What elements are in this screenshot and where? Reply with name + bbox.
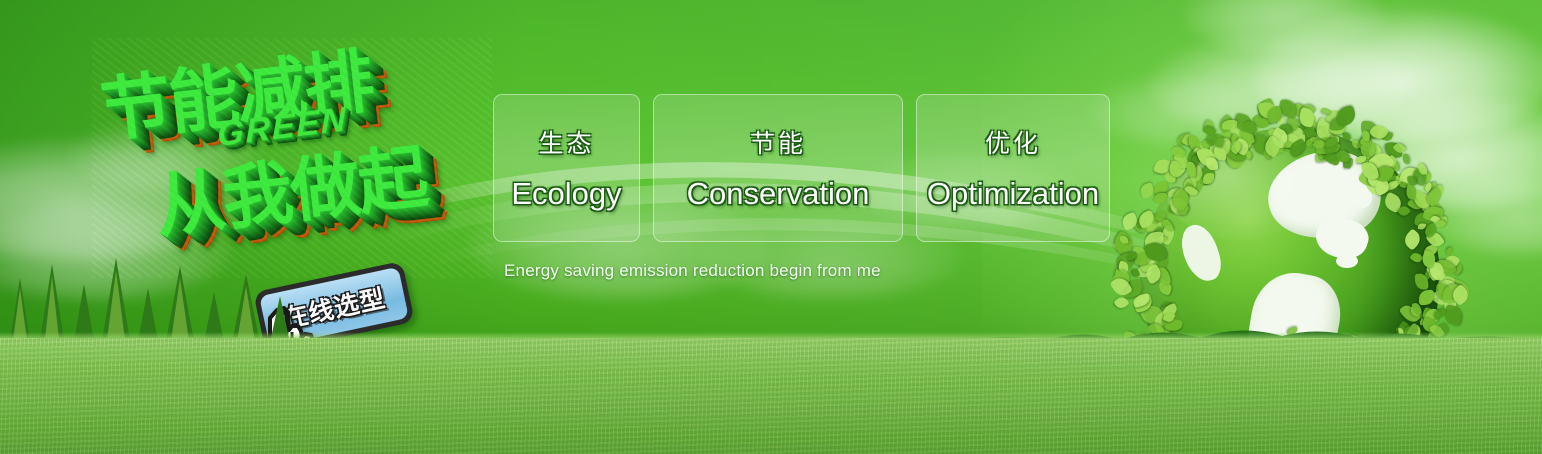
leaf-icon xyxy=(1130,345,1149,364)
leaf-icon xyxy=(1442,303,1465,326)
leaf-icon xyxy=(1148,353,1158,363)
leaf-icon xyxy=(1334,104,1357,127)
leaf-icon xyxy=(1431,359,1448,375)
leaf-icon xyxy=(1430,215,1440,225)
leaf-icon xyxy=(1132,353,1150,370)
globe-sphere xyxy=(1140,128,1440,428)
leaf-icon xyxy=(1120,257,1133,269)
leaf-icon xyxy=(1134,216,1148,230)
leaf-icon xyxy=(1221,119,1237,130)
globe-specular-highlight xyxy=(1166,142,1316,240)
leaf-icon xyxy=(1361,130,1371,142)
leaf-icon xyxy=(1361,120,1377,138)
headline-line-2: 从我做起 xyxy=(149,121,431,252)
leaf-icon xyxy=(1381,130,1393,142)
leaf-icon xyxy=(1369,122,1390,143)
leaf-icon xyxy=(1300,109,1317,126)
headline-texture-overlay xyxy=(92,38,492,278)
leaf-icon xyxy=(1458,370,1474,386)
leaf-icon xyxy=(1437,280,1456,299)
leaf-icon xyxy=(1110,275,1134,299)
leaf-icon xyxy=(1360,137,1371,144)
feature-label-cn-conservation: 节能 xyxy=(750,124,806,160)
continent-south-america xyxy=(1237,266,1346,409)
leaf-icon xyxy=(1431,357,1449,371)
leaf-icon xyxy=(1153,157,1172,176)
leaf-icon xyxy=(1449,284,1472,307)
leaf-icon xyxy=(1458,361,1467,368)
feature-label-en-ecology: Ecology xyxy=(511,176,621,212)
leaf-icon xyxy=(1392,142,1406,156)
leaf-icon xyxy=(1439,260,1447,272)
cloud-icon xyxy=(1255,10,1542,140)
leaf-icon xyxy=(1276,117,1285,125)
headline-line-1: 节能减排 xyxy=(95,25,377,156)
leaf-icon xyxy=(1423,182,1437,191)
leaf-icon xyxy=(1255,97,1276,117)
leaf-icon xyxy=(1430,355,1439,365)
leaf-icon xyxy=(1441,283,1463,306)
headline-english-word: GREEN xyxy=(217,100,348,155)
leaf-icon xyxy=(1409,377,1427,397)
feature-label-cn-ecology: 生态 xyxy=(538,124,594,160)
leaf-icon xyxy=(1411,168,1430,186)
leaf-icon xyxy=(1413,168,1425,177)
leaf-icon xyxy=(1278,100,1296,118)
leaf-icon xyxy=(1127,251,1138,261)
leaf-icon xyxy=(1438,276,1462,301)
leaf-icon xyxy=(1117,261,1130,274)
leaf-icon xyxy=(1398,433,1408,444)
leaf-icon xyxy=(1425,363,1440,377)
leaf-icon xyxy=(1292,432,1309,449)
leaf-icon xyxy=(1433,216,1448,228)
leaf-icon xyxy=(1435,389,1453,405)
leaf-icon xyxy=(1112,236,1131,256)
leaf-icon xyxy=(1446,345,1454,353)
online-selection-cta[interactable]: 在线选型 xyxy=(258,276,428,366)
feature-box-ecology[interactable]: 生态 Ecology xyxy=(493,94,640,242)
banner-tagline: Energy saving emission reduction begin f… xyxy=(504,261,881,281)
leaf-icon xyxy=(1216,114,1236,134)
leaf-icon xyxy=(1202,124,1216,137)
leaf-icon xyxy=(1165,375,1176,386)
pointing-hand-cursor-icon xyxy=(246,304,320,382)
continent-island-2 xyxy=(1354,186,1372,208)
leaf-icon xyxy=(1342,433,1355,446)
leaf-icon xyxy=(1443,299,1456,310)
leaf-icon xyxy=(1435,219,1446,230)
cloud-icon xyxy=(0,140,240,260)
leaf-icon xyxy=(1454,374,1463,382)
leaf-icon xyxy=(1143,370,1171,398)
cloud-icon xyxy=(1150,35,1410,135)
leaf-icon xyxy=(1463,371,1474,380)
leaf-icon xyxy=(1429,191,1439,200)
leaf-icon xyxy=(1285,433,1293,442)
leaf-icon xyxy=(1115,252,1137,271)
leaf-icon xyxy=(1427,346,1439,357)
leaf-icon xyxy=(1273,106,1284,118)
leaf-icon xyxy=(1451,262,1464,275)
leaf-icon xyxy=(1435,402,1449,415)
leaf-icon xyxy=(1111,230,1137,256)
leaf-icon xyxy=(1417,162,1427,176)
leaf-icon xyxy=(1421,171,1434,184)
leaf-icon xyxy=(1298,101,1316,119)
leaf-icon xyxy=(1265,106,1283,124)
leaf-icon xyxy=(1337,431,1350,445)
leaf-icon xyxy=(1153,365,1166,377)
leaf-icon xyxy=(1460,409,1478,428)
leaf-icon xyxy=(1120,236,1129,245)
feature-label-en-conservation: Conservation xyxy=(687,176,870,212)
leaf-icon xyxy=(1409,371,1422,383)
leaf-icon xyxy=(1330,118,1347,132)
leaf-icon xyxy=(1430,204,1445,219)
leaf-icon xyxy=(1320,106,1332,116)
leaf-icon xyxy=(1440,299,1451,307)
leaf-icon xyxy=(1138,333,1152,350)
leaf-icon xyxy=(1278,99,1297,118)
leaf-icon xyxy=(1250,110,1272,131)
leaf-icon xyxy=(1289,100,1309,120)
cloud-icon xyxy=(1430,175,1542,255)
leaf-icon xyxy=(1119,212,1139,231)
leaf-icon xyxy=(1385,141,1403,159)
leaf-icon xyxy=(1299,439,1316,454)
headline-3d-artwork: 节能减排 GREEN 从我做起 xyxy=(92,38,492,278)
leaf-icon xyxy=(1147,363,1163,380)
leaf-icon xyxy=(1268,106,1277,115)
leaf-icon xyxy=(1113,268,1128,286)
leaf-icon xyxy=(1122,330,1139,347)
leaf-icon xyxy=(1403,153,1411,164)
leaf-icon xyxy=(1438,383,1451,395)
continent-island-1 xyxy=(1336,254,1358,268)
leaf-icon xyxy=(1234,113,1254,132)
leaf-icon xyxy=(1298,106,1317,127)
leaf-icon xyxy=(1445,247,1454,256)
leaf-icon xyxy=(1108,267,1134,293)
eco-green-banner: 节能减排 GREEN 从我做起 生态 Ecology 节能 Conservati… xyxy=(0,0,1542,454)
leaf-icon xyxy=(1457,370,1474,385)
feature-box-conservation[interactable]: 节能 Conservation xyxy=(653,94,903,242)
leaf-icon xyxy=(1423,182,1433,193)
leaf-icon xyxy=(1176,133,1193,146)
cloud-icon xyxy=(1185,0,1385,55)
feature-box-group: 生态 Ecology 节能 Conservation 优化 Optimizati… xyxy=(493,94,1111,242)
feature-box-optimization[interactable]: 优化 Optimization xyxy=(916,94,1110,242)
leaf-icon xyxy=(1407,175,1416,185)
leaf-icon xyxy=(1325,107,1346,126)
leaf-icon xyxy=(1442,253,1460,271)
leaf-icon xyxy=(1201,119,1217,135)
leaf-icon xyxy=(1113,294,1129,310)
cloud-icon xyxy=(70,120,260,190)
leaf-icon xyxy=(1376,428,1393,447)
leafy-earth-globe-icon xyxy=(1140,128,1440,428)
leaf-icon xyxy=(1135,330,1150,345)
leaf-icon xyxy=(1415,426,1430,439)
leaf-icon xyxy=(1424,186,1445,207)
feature-label-en-optimization: Optimization xyxy=(927,176,1099,212)
leaf-icon xyxy=(1140,183,1156,200)
leaf-icon xyxy=(1428,184,1445,199)
leaf-icon xyxy=(1410,173,1420,183)
feature-label-cn-optimization: 优化 xyxy=(985,124,1041,160)
leaf-icon xyxy=(1257,100,1277,121)
leaf-icon xyxy=(1437,273,1456,291)
leaf-icon xyxy=(1181,132,1198,149)
cloud-icon xyxy=(0,205,230,300)
leaf-icon xyxy=(1445,278,1472,304)
